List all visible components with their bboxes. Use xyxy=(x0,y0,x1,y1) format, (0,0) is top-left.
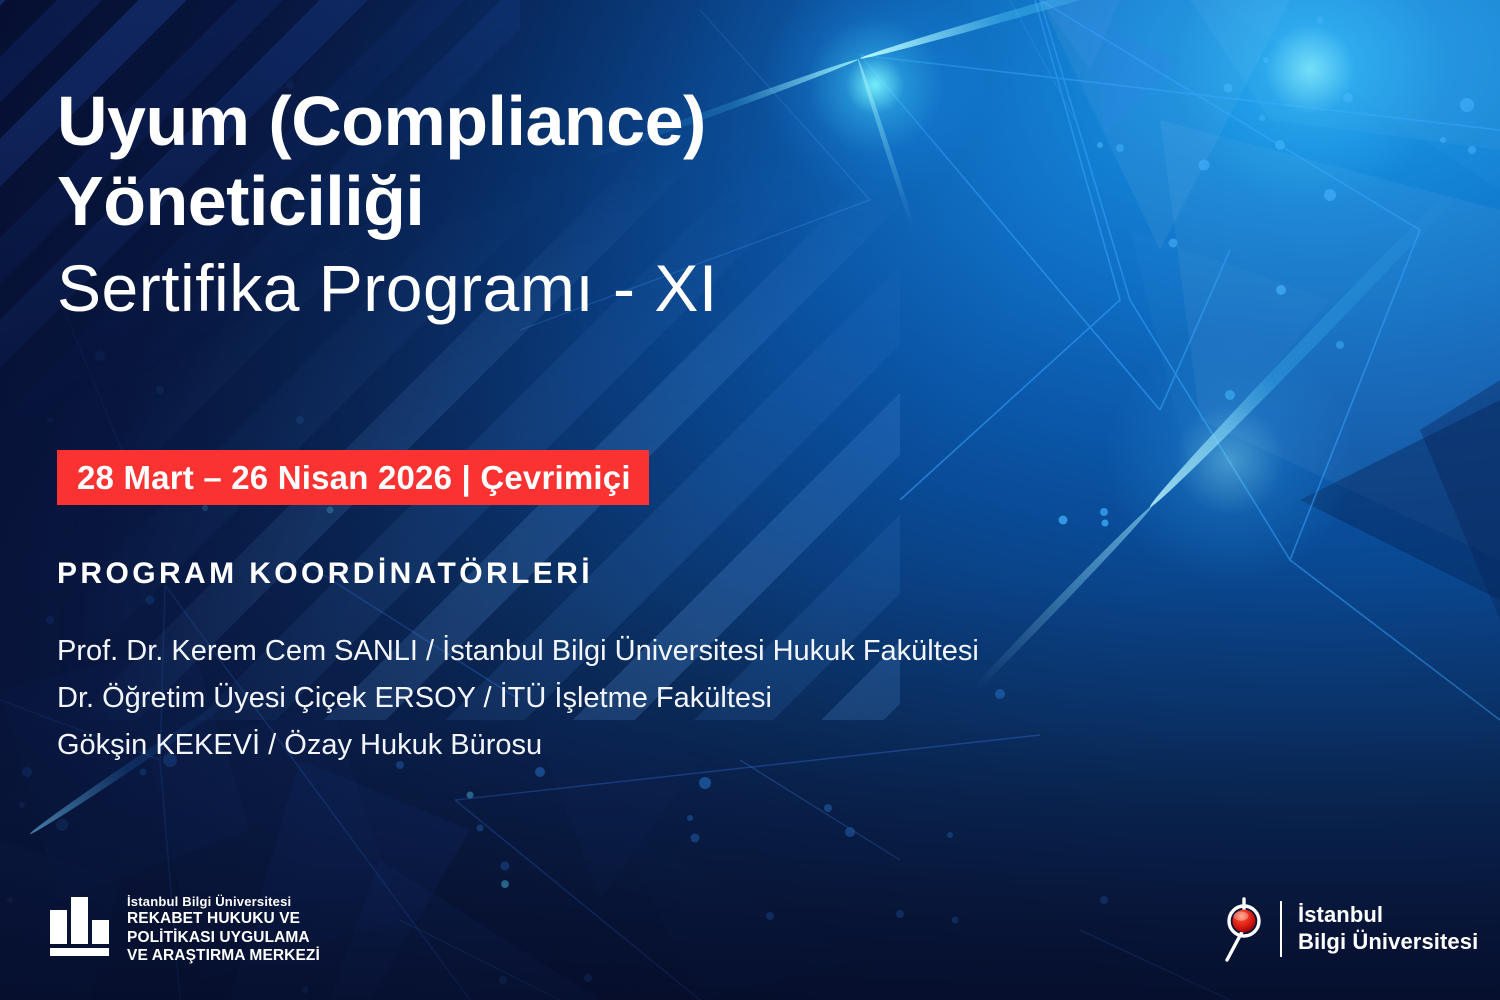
bilgi-pin-icon xyxy=(1218,896,1270,962)
center-logo-line-1: REKABET HUKUKU VE xyxy=(127,910,320,928)
center-logo-name: REKABET HUKUKU VE POLİTİKASI UYGULAMA VE… xyxy=(127,910,320,965)
competition-law-center-logo: İstanbul Bilgi Üniversitesi REKABET HUKU… xyxy=(50,893,320,966)
coordinators-list: Prof. Dr. Kerem Cem SANLI / İstanbul Bil… xyxy=(57,628,979,769)
bilgi-university-logo: İstanbul Bilgi Üniversitesi xyxy=(1218,896,1478,962)
list-item: Prof. Dr. Kerem Cem SANLI / İstanbul Bil… xyxy=(57,628,979,675)
center-logo-line-3: VE ARAŞTIRMA MERKEZİ xyxy=(127,947,320,965)
list-item: Dr. Öğretim Üyesi Çiçek ERSOY / İTÜ İşle… xyxy=(57,675,979,722)
center-logo-text: İstanbul Bilgi Üniversitesi REKABET HUKU… xyxy=(127,893,320,966)
poster-content: Uyum (Compliance) Yöneticiliği Sertifika… xyxy=(0,0,1500,1000)
bilgi-logo-line-1: İstanbul xyxy=(1298,902,1478,929)
bilgi-logo-text: İstanbul Bilgi Üniversitesi xyxy=(1298,902,1478,956)
date-badge-text: 28 Mart – 26 Nisan 2026 | Çevrimiçi xyxy=(77,459,631,497)
poster-canvas: Uyum (Compliance) Yöneticiliği Sertifika… xyxy=(0,0,1500,1000)
title-line-2: Yöneticiliği xyxy=(57,162,718,242)
date-badge: 28 Mart – 26 Nisan 2026 | Çevrimiçi xyxy=(57,450,649,505)
center-logo-line-2: POLİTİKASI UYGULAMA xyxy=(127,929,320,947)
logo-divider xyxy=(1280,901,1282,957)
title-line-1: Uyum (Compliance) xyxy=(57,82,718,162)
center-logo-institution: İstanbul Bilgi Üniversitesi xyxy=(127,894,320,910)
program-title: Uyum (Compliance) Yöneticiliği Sertifika… xyxy=(57,82,718,331)
coordinators-heading: PROGRAM KOORDİNATÖRLERİ xyxy=(57,557,593,591)
title-line-3: Sertifika Programı - XI xyxy=(57,246,718,332)
bar-chart-icon xyxy=(50,893,112,957)
bilgi-logo-line-2: Bilgi Üniversitesi xyxy=(1298,929,1478,956)
list-item: Gökşin KEKEVİ / Özay Hukuk Bürosu xyxy=(57,722,979,769)
